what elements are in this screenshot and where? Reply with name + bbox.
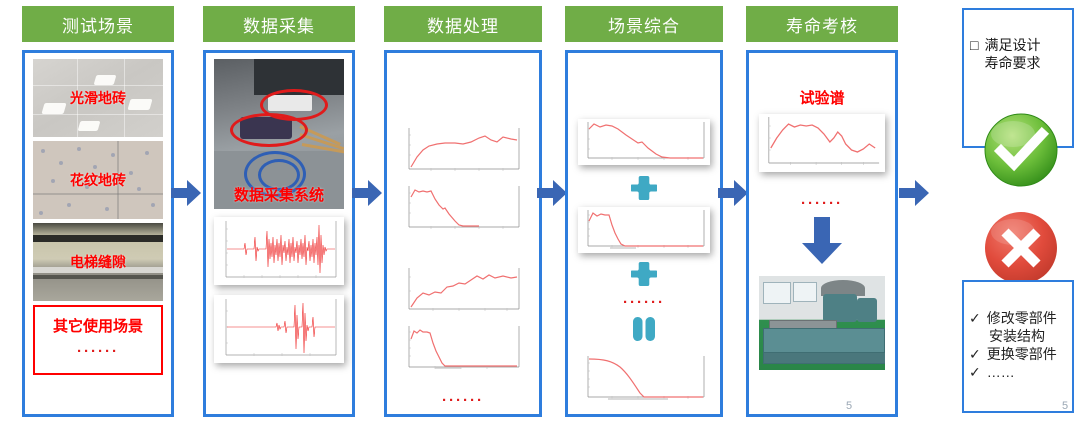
photo-caption-pattern-tile: 花纹地砖	[33, 170, 163, 190]
arrow-3-icon	[536, 178, 568, 208]
column-data-acquisition: 数据采集 数据采集系统	[203, 6, 355, 42]
page-number-left: 5	[846, 400, 852, 412]
processing-plot-2	[399, 183, 527, 235]
photo-caption-smooth-tile: 光滑地砖	[33, 88, 163, 108]
arrow-1-icon	[170, 178, 202, 208]
column-body-test-scenario: 光滑地砖 花纹地砖 电梯缝隙 其它使用场景	[22, 50, 174, 417]
processing-plot-4	[399, 323, 527, 375]
check-mark-icon: ✓	[969, 310, 981, 328]
photo-elevator-gap: 电梯缝隙	[33, 223, 163, 301]
column-header-data-processing: 数据处理	[384, 6, 542, 42]
bullet-square-icon: □	[970, 36, 978, 54]
column-body-data-acquisition: 数据采集系统	[203, 50, 355, 417]
column-scenario-synthesis: 场景综合	[565, 6, 723, 42]
synthesis-plot-result	[578, 353, 710, 405]
column-life-assessment: 寿命考核 试验谱 ······	[746, 6, 898, 42]
fail-cross-icon	[983, 210, 1059, 286]
pass-check-icon	[983, 112, 1059, 188]
result-pass-line2: 寿命要求	[984, 54, 1040, 72]
equals-operator-icon	[578, 316, 710, 347]
arrow-4-icon	[717, 178, 749, 208]
page-number-right: 5	[1062, 400, 1068, 412]
test-spectrum-plot	[759, 114, 885, 172]
column-body-data-processing: ······	[384, 50, 542, 417]
result-pass-line1: 满足设计	[984, 36, 1040, 54]
waveform-plot-1	[214, 217, 344, 285]
photo-caption-elevator-gap: 电梯缝隙	[33, 252, 163, 272]
processing-dots: ······	[399, 393, 527, 408]
photo-daq-system: 数据采集系统	[214, 59, 344, 209]
other-scenarios-dots: ······	[35, 344, 161, 359]
list-item-label: ……	[987, 364, 1015, 382]
synthesis-plot-2	[578, 207, 710, 253]
column-data-processing: 数据处理	[384, 6, 542, 42]
column-header-test-scenario: 测试场景	[22, 6, 174, 42]
column-body-life-assessment: 试验谱 ······	[746, 50, 898, 417]
plus-operator-2-icon	[578, 261, 710, 287]
processing-plot-1	[399, 125, 527, 177]
column-header-data-acquisition: 数据采集	[203, 6, 355, 42]
list-item-label: 安装结构	[989, 328, 1045, 346]
down-arrow-icon	[759, 217, 885, 270]
spectrum-label: 试验谱	[759, 87, 885, 108]
check-mark-icon: ✓	[969, 364, 981, 382]
arrow-5-icon	[898, 178, 930, 208]
list-item: ✓ 修改零部件	[969, 310, 1067, 328]
column-body-scenario-synthesis: ······	[565, 50, 723, 417]
column-header-life-assessment: 寿命考核	[746, 6, 898, 42]
check-mark-icon: ✓	[969, 346, 981, 364]
flow-diagram: 测试场景 光滑地砖	[0, 0, 1080, 421]
list-item-label: 更换零部件	[987, 346, 1057, 364]
list-item: 安装结构	[969, 328, 1067, 346]
life-assessment-dots: ······	[759, 196, 885, 211]
column-header-scenario-synthesis: 场景综合	[565, 6, 723, 42]
other-scenarios-title: 其它使用场景	[35, 315, 161, 336]
highlight-ellipse-2	[230, 113, 308, 147]
column-test-scenario: 测试场景 光滑地砖	[22, 6, 174, 42]
other-scenarios-box: 其它使用场景 ······	[33, 305, 163, 375]
synthesis-plot-1	[578, 119, 710, 165]
plus-operator-1-icon	[578, 175, 710, 201]
arrow-2-icon	[351, 178, 383, 208]
photo-smooth-tile: 光滑地砖	[33, 59, 163, 137]
list-item-label: 修改零部件	[987, 310, 1057, 328]
result-fail-actions-box: ✓ 修改零部件 安装结构 ✓ 更换零部件 ✓ ……	[962, 280, 1074, 413]
photo-pattern-tile: 花纹地砖	[33, 141, 163, 219]
synthesis-dots: ······	[578, 295, 710, 310]
photo-vibration-shaker	[759, 276, 885, 370]
waveform-plot-2	[214, 295, 344, 363]
photo-caption-daq: 数据采集系统	[214, 184, 344, 205]
processing-plot-3	[399, 265, 527, 317]
list-item: ✓ 更换零部件	[969, 346, 1067, 364]
list-item: ✓ ……	[969, 364, 1067, 382]
corrective-action-list: ✓ 修改零部件 安装结构 ✓ 更换零部件 ✓ ……	[969, 310, 1067, 382]
